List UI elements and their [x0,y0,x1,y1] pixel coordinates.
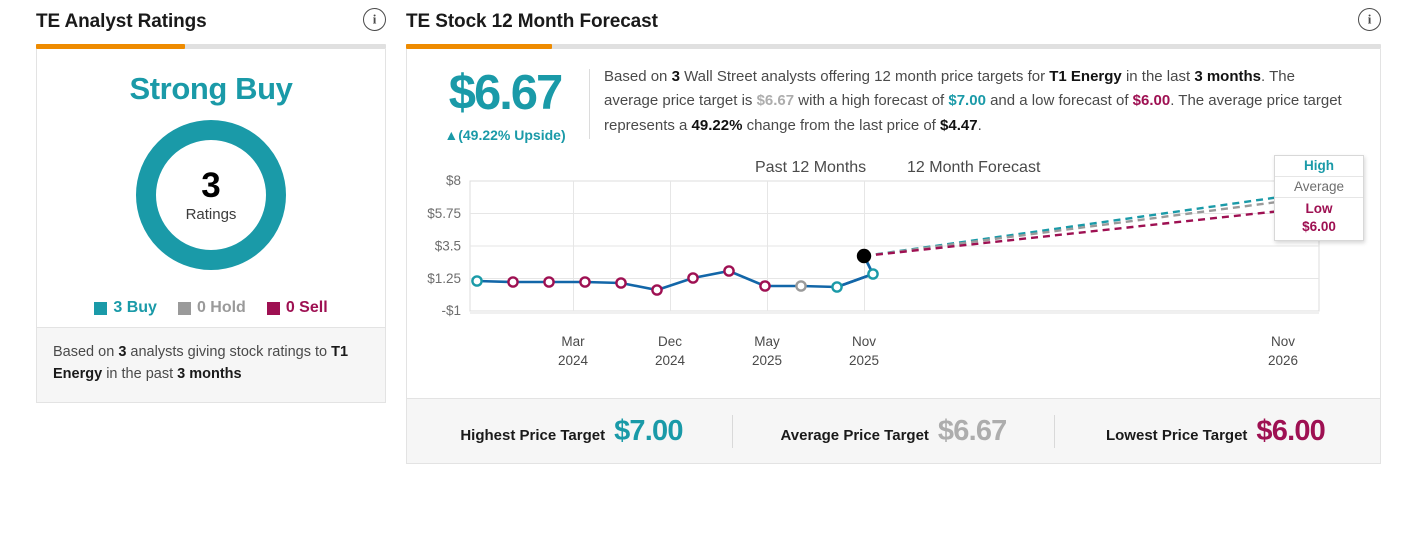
marker-10 [832,282,841,291]
average-price-target-value: $6.67 [938,415,1007,448]
tab-fill [406,44,552,49]
forecast-tooltip: High Average Low $6.00 [1274,155,1364,241]
blurb-low: $6.00 [1133,92,1171,109]
price-targets-bar: Highest Price Target $7.00 Average Price… [407,398,1380,463]
tooltip-high-label: High [1275,156,1363,176]
marker-9 [796,281,805,290]
analyst-ratings-panel: TE Analyst Ratings i Strong Buy 3 Rating… [36,0,386,403]
marker-4 [616,278,625,287]
y-tick-4: -$1 [441,303,461,318]
forecast-description: Based on 3 Wall Street analysts offering… [604,65,1366,143]
left-tab-indicator [36,44,386,49]
tooltip-low: Low $6.00 [1275,197,1363,240]
blurb-p1: Based on [604,68,672,85]
chart-plot-area [470,181,1319,314]
marker-8 [760,281,769,290]
x-tick-year-1: 2024 [655,353,686,368]
marker-7 [724,266,733,275]
average-price-target-value: $6.67 [421,69,589,118]
buy-swatch-icon [94,302,107,315]
y-tick-1: $5.75 [427,206,461,221]
x-tick-year-3: 2025 [849,353,879,368]
right-panel-header: TE Stock 12 Month Forecast i [406,0,1381,44]
blurb-change: 49.22% [692,117,743,134]
upside-percentage: ▲(49.22% Upside) [421,127,589,143]
marker-11 [868,269,877,278]
x-tick-year-2: 2025 [752,353,782,368]
blurb-p5: with a high forecast of [794,92,948,109]
left-panel-header: TE Analyst Ratings i [36,0,386,44]
legend-item-sell[interactable]: 0 Sell [267,299,328,317]
forecast-summary: $6.67 ▲(49.22% Upside) Based on 3 Wall S… [407,49,1380,153]
highest-price-target-label: Highest Price Target [460,427,605,444]
tooltip-low-label: Low [1275,200,1363,218]
stock-forecast-card: $6.67 ▲(49.22% Upside) Based on 3 Wall S… [406,49,1381,464]
ratings-donut-chart: 3 Ratings [131,115,291,275]
tooltip-low-value: $6.00 [1275,218,1363,236]
summary-divider [589,69,590,139]
y-axis-labels: $8 $5.75 $3.5 $1.25 -$1 [427,173,461,318]
marker-current-price [858,250,870,262]
blurb-period: 3 months [1194,68,1261,85]
marker-5 [652,285,661,294]
footer-prefix: Based on [53,344,118,360]
sell-swatch-icon [267,302,280,315]
lowest-price-target-label: Lowest Price Target [1106,427,1247,444]
x-tick-month-3: Nov [852,334,876,349]
ratings-count: 3 [201,168,220,203]
marker-0 [472,276,481,285]
tooltip-average-label: Average [1275,176,1363,197]
highest-price-target-value: $7.00 [614,415,683,448]
chart-svg: $8 $5.75 $3.5 $1.25 -$1 Mar 2024 Dec 202… [415,153,1374,398]
legend-label-buy: 3 Buy [113,299,157,317]
x-tick-year-0: 2024 [558,353,589,368]
blurb-average: $6.67 [757,92,795,109]
x-tick-month-4: Nov [1271,334,1295,349]
blurb-p3: in the last [1122,68,1195,85]
lowest-price-target-value: $6.00 [1256,415,1325,448]
blurb-p8: change from the last price of [742,117,940,134]
legend-label-sell: 0 Sell [286,299,328,317]
analyst-ratings-card: Strong Buy 3 Ratings 3 Buy [36,49,386,403]
x-tick-year-4: 2026 [1268,353,1298,368]
ratings-footer-text: Based on 3 analysts giving stock ratings… [37,327,385,402]
footer-mid: analysts giving stock ratings to [126,344,331,360]
info-icon[interactable]: i [363,8,386,31]
highest-price-target: Highest Price Target $7.00 [411,415,732,448]
right-tab-indicator [406,44,1381,49]
footer-mid2: in the past [102,366,177,382]
blurb-p2: Wall Street analysts offering 12 month p… [680,68,1049,85]
marker-3 [580,277,589,286]
blurb-high: $7.00 [948,92,986,109]
ratings-legend: 3 Buy 0 Hold 0 Sell [37,299,385,317]
marker-6 [688,273,697,282]
x-tick-month-2: May [754,334,780,349]
marker-1 [508,277,517,286]
ratings-body: Strong Buy 3 Ratings 3 Buy [37,49,385,327]
y-tick-2: $3.5 [435,239,461,254]
forecast-chart: Past 12 Months 12 Month Forecast [415,153,1372,398]
average-price-target-label: Average Price Target [781,427,929,444]
hold-swatch-icon [178,302,191,315]
marker-2 [544,277,553,286]
average-price-block: $6.67 ▲(49.22% Upside) [421,65,589,143]
donut-center-label: 3 Ratings [131,115,291,275]
forecast-title: TE Stock 12 Month Forecast [406,0,1381,44]
y-tick-3: $1.25 [427,271,461,286]
tab-fill [36,44,185,49]
blurb-company: T1 Energy [1049,68,1122,85]
legend-item-hold[interactable]: 0 Hold [178,299,246,317]
stock-forecast-panel: TE Stock 12 Month Forecast i $6.67 ▲(49.… [406,0,1381,464]
blurb-p6: and a low forecast of [986,92,1133,109]
y-tick-0: $8 [446,173,461,188]
ratings-count-label: Ratings [186,206,237,223]
x-tick-month-0: Mar [561,334,585,349]
blurb-last-price: $4.47 [940,117,978,134]
legend-label-hold: 0 Hold [197,299,246,317]
average-price-target: Average Price Target $6.67 [732,415,1054,448]
legend-item-buy[interactable]: 3 Buy [94,299,157,317]
x-axis-labels: Mar 2024 Dec 2024 May 2025 Nov 2025 Nov … [558,334,1298,368]
forecast-page: TE Analyst Ratings i Strong Buy 3 Rating… [0,0,1411,540]
page-title: TE Analyst Ratings [36,0,386,44]
lowest-price-target: Lowest Price Target $6.00 [1054,415,1376,448]
footer-period: 3 months [177,366,241,382]
blurb-analyst-count: 3 [672,68,680,85]
consensus-rating: Strong Buy [37,71,385,107]
blurb-p9: . [978,117,982,134]
info-icon[interactable]: i [1358,8,1381,31]
x-tick-month-1: Dec [658,334,682,349]
